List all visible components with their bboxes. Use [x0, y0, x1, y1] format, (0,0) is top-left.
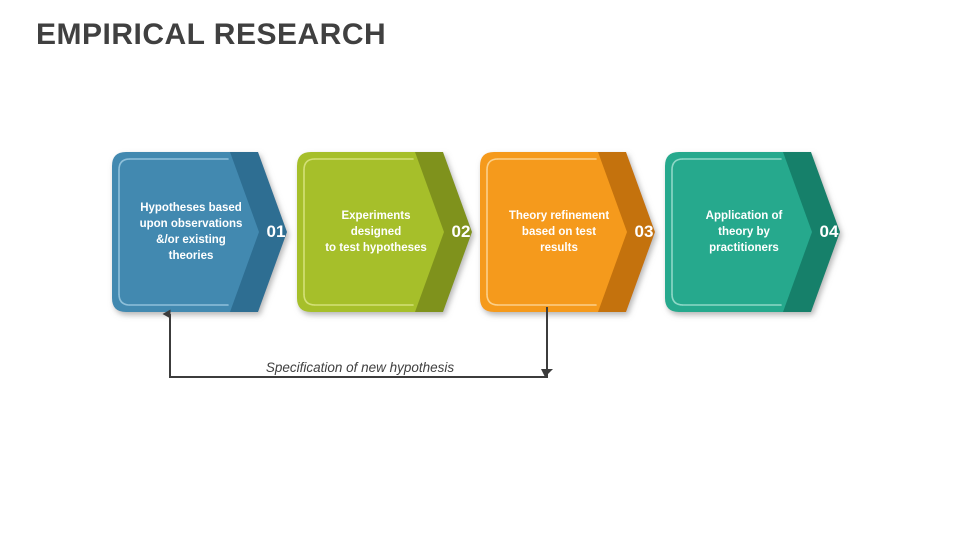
flow-stage-3-graphic: [478, 152, 690, 312]
stage-3-body-shape: [480, 152, 627, 312]
flow-stage-2-graphic: [295, 152, 507, 312]
flow-stage-2[interactable]: Experiments designed to test hypotheses …: [295, 152, 507, 312]
stage-1-body-shape: [112, 152, 259, 312]
stage-2-body-shape: [297, 152, 444, 312]
flow-stage-1[interactable]: Hypotheses based upon observations &/or …: [110, 152, 322, 312]
feedback-loop-label: Specification of new hypothesis: [150, 360, 570, 375]
feedback-loop-connector: [150, 305, 570, 395]
stage-4-body-shape: [665, 152, 812, 312]
slide-canvas: EMPIRICAL RESEARCH Hypotheses based upon…: [0, 0, 960, 540]
flow-stage-4[interactable]: Application of theory by practitioners 0…: [663, 152, 875, 312]
flow-stage-3[interactable]: Theory refinement based on test results …: [478, 152, 690, 312]
flow-stage-4-graphic: [663, 152, 875, 312]
process-flow-diagram: Hypotheses based upon observations &/or …: [0, 0, 960, 540]
flow-stage-1-graphic: [110, 152, 322, 312]
